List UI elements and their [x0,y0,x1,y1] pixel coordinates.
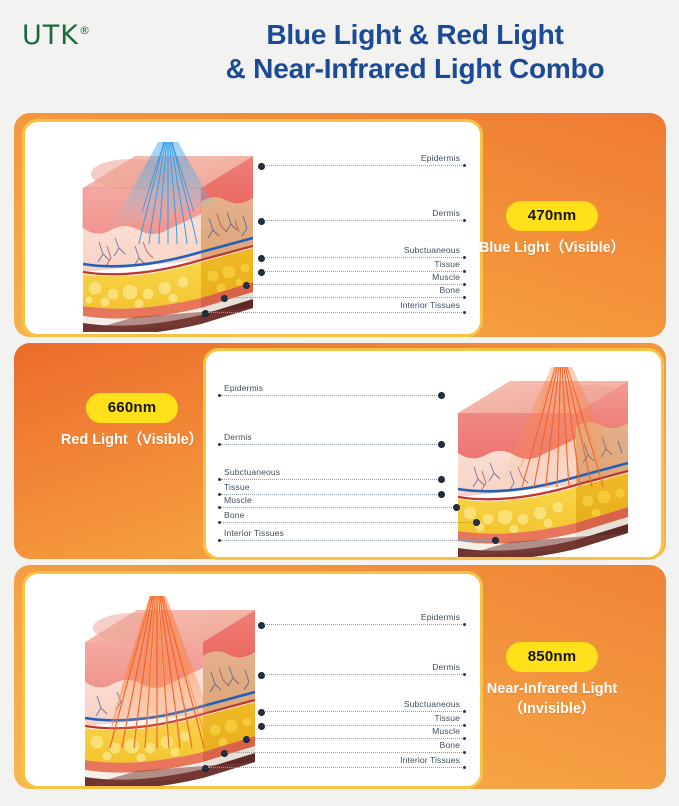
label-bone: Bone [264,285,460,295]
node-muscle-red [453,504,460,511]
wavelength-pill-850: 850nm [506,642,599,672]
label-muscle-red: Muscle [224,495,420,505]
light-visibility-red: （Visible） [128,432,203,448]
leader-dermis-red [221,444,439,446]
leader-interior-tissues [208,312,464,314]
leader-dermis-nir [264,674,464,676]
leader-subcutaneous-red [221,479,439,481]
label-bone-nir: Bone [264,740,460,750]
badge-red-light: 660nm Red Light（Visible） [32,393,232,451]
leader-interior-tissues-nir [208,767,464,769]
label-dot-bone [463,296,466,299]
light-caption-red: Red Light（Visible） [32,431,232,451]
label-dot-muscle-nir [463,737,466,740]
leader-interior-tissues-red [221,540,493,542]
label-dot-interior-tissues-nir [463,766,466,769]
label-dot-epidermis [463,164,466,167]
leader-bone [227,297,464,299]
leader-dermis [264,220,464,222]
light-visibility-blue: （Visible） [550,240,625,256]
label-interior-tissues-nir: Interior Tissues [264,755,460,765]
panel-red-light: Epidermis Dermis Subctuaneous Tissue Mus… [14,343,666,559]
label-tissue: Tissue [264,259,460,269]
diagram-card-red: Epidermis Dermis Subctuaneous Tissue Mus… [203,348,664,560]
label-group-blue: Epidermis Dermis Subctuaneous Tissue Mus… [230,122,480,334]
badge-nir-light: 850nm Near-Infrared Light （Invisible） [452,642,652,719]
label-dot-tissue [463,270,466,273]
node-interior-tissues-red [492,537,499,544]
light-name-nir: Near-Infrared Light [452,680,652,700]
label-epidermis: Epidermis [264,153,460,163]
label-interior-tissues-red: Interior Tissues [224,528,420,538]
node-epidermis-red [438,392,445,399]
label-dot-interior-tissues [463,311,466,314]
label-bone-red: Bone [224,510,420,520]
light-caption-nir: Near-Infrared Light （Invisible） [452,680,652,719]
panel-near-infrared-light: Epidermis Dermis Subctuaneous Tissue Mus… [14,565,666,789]
page-title: Blue Light & Red Light & Near-Infrared L… [160,18,670,86]
label-dermis-nir: Dermis [264,662,460,672]
label-dot-muscle [463,283,466,286]
brand-logo: UTK® [22,20,91,51]
panel-blue-light: Epidermis Dermis Subctuaneous Tissue Mus… [14,113,666,337]
label-tissue-nir: Tissue [264,713,460,723]
node-bone-red [473,519,480,526]
leader-epidermis [264,165,464,167]
label-group-red: Epidermis Dermis Subctuaneous Tissue Mus… [216,351,466,557]
label-tissue-red: Tissue [224,482,420,492]
node-subcutaneous-red [438,476,445,483]
leader-epidermis-red [221,395,439,397]
leader-bone-nir [227,752,464,754]
header: UTK® Blue Light & Red Light & Near-Infra… [0,0,679,104]
label-muscle: Muscle [264,272,460,282]
node-dermis-red [438,441,445,448]
label-epidermis-nir: Epidermis [264,612,460,622]
node-tissue-red [438,491,445,498]
label-dot-bone-nir [463,751,466,754]
light-name-red: Red Light [61,432,128,448]
leader-epidermis-nir [264,624,464,626]
light-name-blue: Blue Light [479,240,550,256]
trademark-icon: ® [79,24,91,37]
light-caption-blue: Blue Light（Visible） [452,239,652,259]
label-subcutaneous: Subctuaneous [264,245,460,255]
diagram-card-nir: Epidermis Dermis Subctuaneous Tissue Mus… [22,571,483,789]
diagram-card-blue: Epidermis Dermis Subctuaneous Tissue Mus… [22,119,483,337]
label-group-nir: Epidermis Dermis Subctuaneous Tissue Mus… [230,574,480,786]
label-dot-tissue-nir [463,724,466,727]
brand-logo-text: UTK [22,20,79,51]
wavelength-pill-660: 660nm [86,393,179,423]
badge-blue-light: 470nm Blue Light（Visible） [452,201,652,259]
skin-cross-section-red [443,367,638,560]
skin-diagram-svg-red [443,367,638,560]
page-title-line1: Blue Light & Red Light [160,18,670,52]
label-dermis: Dermis [264,208,460,218]
label-dermis-red: Dermis [224,432,420,442]
page-title-line2: & Near-Infrared Light Combo [160,52,670,86]
label-dot-epidermis-nir [463,623,466,626]
label-epidermis-red: Epidermis [224,383,420,393]
label-interior-tissues: Interior Tissues [264,300,460,310]
label-subcutaneous-red: Subctuaneous [224,467,420,477]
leader-muscle-red [221,507,454,509]
label-muscle-nir: Muscle [264,726,460,736]
wavelength-pill-470: 470nm [506,201,599,231]
label-subcutaneous-nir: Subctuaneous [264,699,460,709]
leader-bone-red [221,522,474,524]
light-visibility-nir: （Invisible） [452,700,652,720]
